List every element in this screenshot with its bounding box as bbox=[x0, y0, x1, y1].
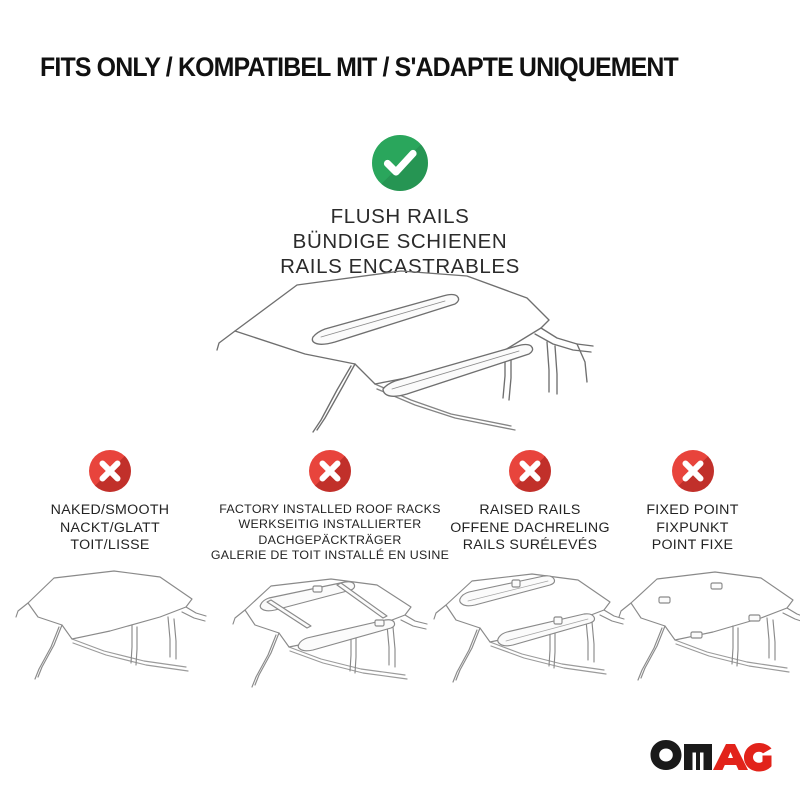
option-label-de: FIXPUNKT bbox=[600, 520, 785, 538]
car-roof-with-raised-rails-illustration bbox=[428, 555, 628, 690]
option-label-fr: TOIT/LISSE bbox=[10, 537, 210, 555]
x-circle-icon bbox=[309, 450, 351, 492]
incompatible-option-naked-smooth: NAKED/SMOOTH NACKT/GLATT TOIT/LISSE bbox=[10, 450, 210, 555]
option-label-en: FIXED POINT bbox=[600, 502, 785, 520]
logo-letter-c bbox=[744, 743, 772, 772]
option-label-en: NAKED/SMOOTH bbox=[10, 502, 210, 520]
page-title: FITS ONLY / KOMPATIBEL MIT / S'ADAPTE UN… bbox=[40, 52, 726, 83]
option-label-de-1: WERKSEITIG INSTALLIERTER bbox=[205, 517, 455, 532]
option-label-fr: POINT FIXE bbox=[600, 537, 785, 555]
logo-letter-a bbox=[713, 744, 748, 770]
car-roof-with-fixed-points-illustration bbox=[615, 555, 800, 690]
x-mark-glyph bbox=[672, 450, 714, 492]
car-roof-with-flush-rails-illustration bbox=[205, 258, 615, 438]
incompatible-option-fixed-point: FIXED POINT FIXPUNKT POINT FIXE bbox=[600, 450, 785, 555]
incompatible-option-factory-installed-roof-racks: FACTORY INSTALLED ROOF RACKS WERKSEITIG … bbox=[205, 450, 455, 564]
x-mark-glyph bbox=[89, 450, 131, 492]
compatible-label-de: BÜNDIGE SCHIENEN bbox=[0, 229, 800, 254]
x-circle-icon bbox=[89, 450, 131, 492]
option-labels: FACTORY INSTALLED ROOF RACKS WERKSEITIG … bbox=[205, 502, 455, 564]
car-roof-with-crossbars-illustration bbox=[225, 558, 435, 698]
logo-letter-m bbox=[684, 744, 712, 770]
x-mark-glyph bbox=[309, 450, 351, 492]
logo-letter-o bbox=[651, 740, 682, 770]
option-label-en: FACTORY INSTALLED ROOF RACKS bbox=[205, 502, 455, 517]
incompatible-options-row: NAKED/SMOOTH NACKT/GLATT TOIT/LISSE bbox=[0, 450, 800, 700]
option-labels: NAKED/SMOOTH NACKT/GLATT TOIT/LISSE bbox=[10, 502, 210, 555]
option-labels: FIXED POINT FIXPUNKT POINT FIXE bbox=[600, 502, 785, 555]
x-circle-icon bbox=[509, 450, 551, 492]
x-mark-glyph bbox=[509, 450, 551, 492]
check-mark-glyph bbox=[372, 135, 428, 191]
check-circle-icon bbox=[372, 135, 428, 191]
option-label-de: NACKT/GLATT bbox=[10, 520, 210, 538]
option-label-de-2: DACHGEPÄCKTRÄGER bbox=[205, 533, 455, 548]
car-roof-bare-illustration bbox=[10, 555, 210, 685]
x-circle-icon bbox=[672, 450, 714, 492]
compatible-label-en: FLUSH RAILS bbox=[0, 204, 800, 229]
omac-logo bbox=[650, 738, 772, 772]
